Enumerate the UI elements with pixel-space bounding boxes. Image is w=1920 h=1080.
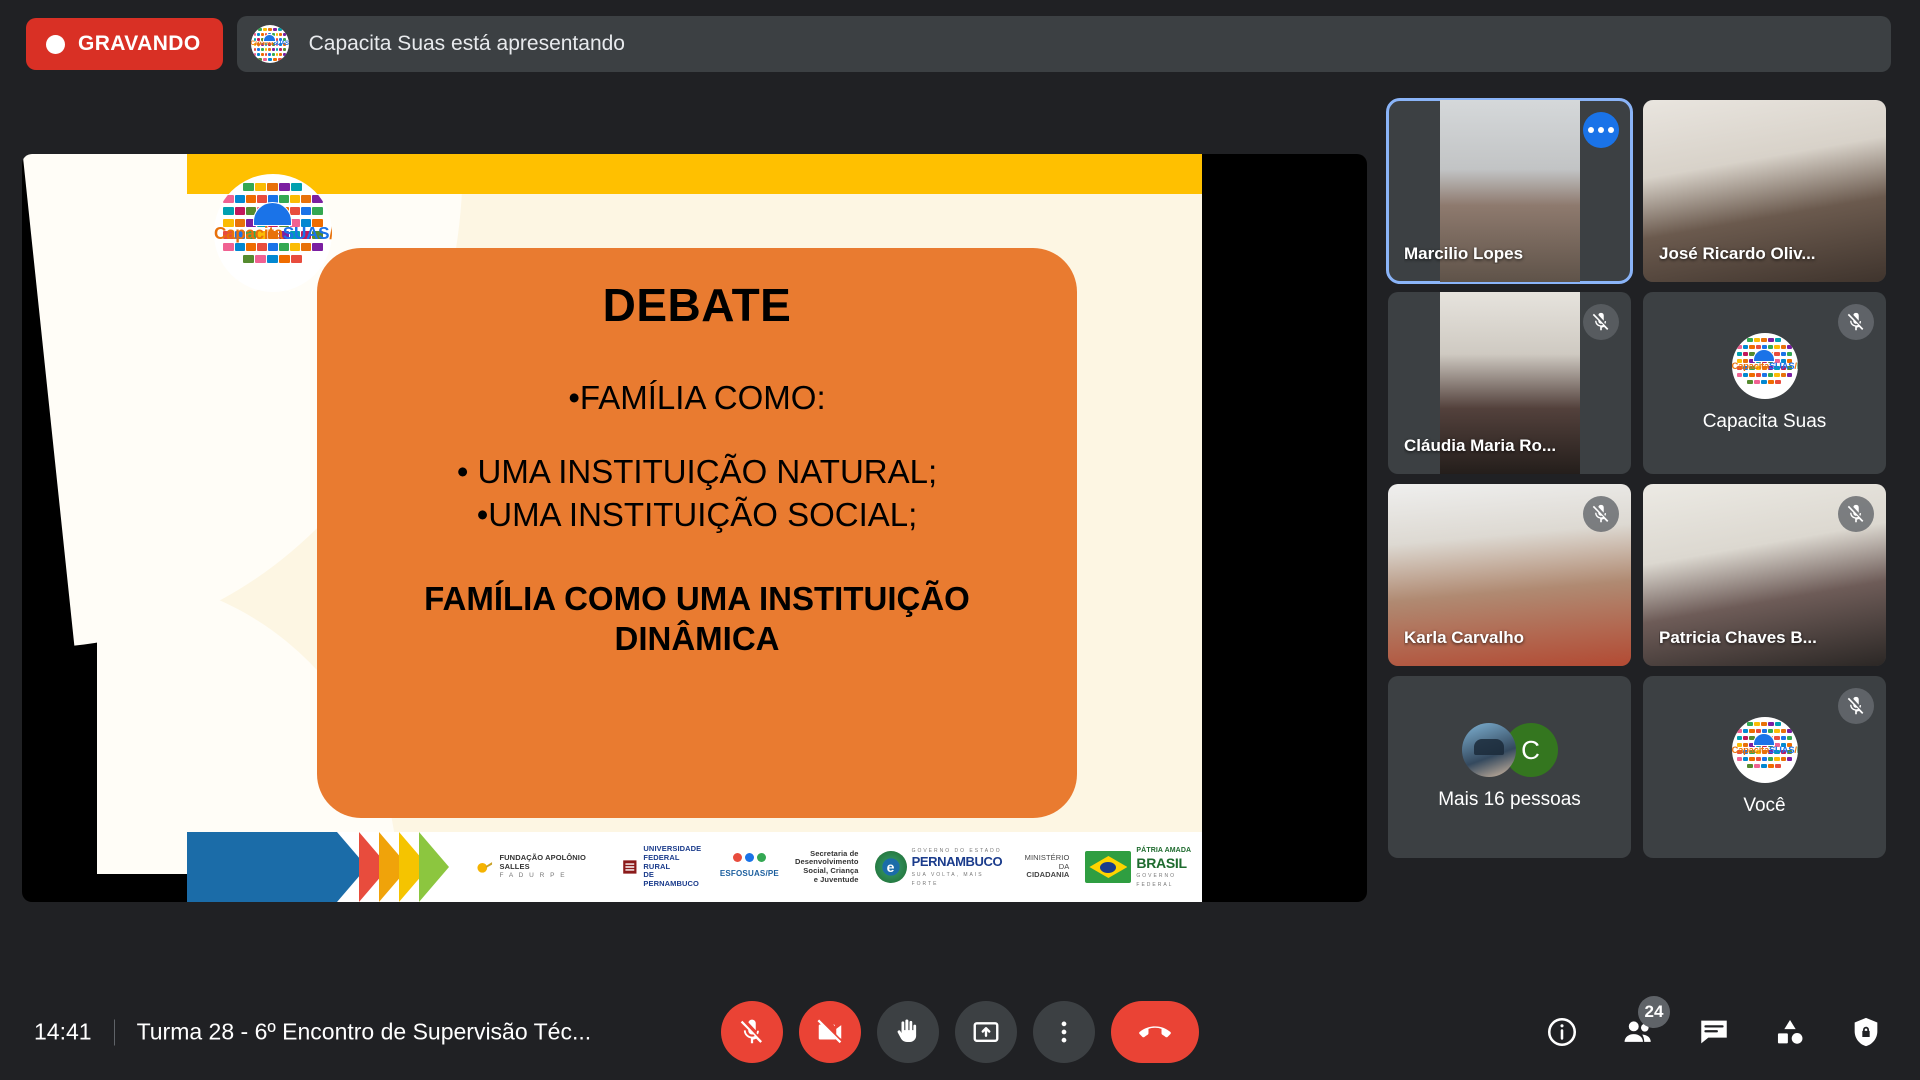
- hangup-icon: [1138, 1015, 1172, 1049]
- footer-blue-block: [187, 832, 337, 902]
- meeting-details-button[interactable]: [1538, 1008, 1586, 1056]
- participant-name: Patricia Chaves B...: [1659, 628, 1874, 648]
- tile-mic-off-indicator: [1583, 496, 1619, 532]
- footer-chevron-decoration: [337, 832, 457, 902]
- microphone-off-button[interactable]: [721, 1001, 783, 1063]
- participant-tile[interactable]: Karla Carvalho: [1388, 484, 1631, 666]
- patria-amada-brasil-logo: PÁTRIA AMADA BRASIL GOVERNO FEDERAL: [1085, 846, 1202, 889]
- fundacao-apolonio-salles-logo: FUNDAÇÃO APOLÔNIO SALLES F A D U R P E: [475, 854, 605, 880]
- brasil-flag-icon: [1085, 851, 1131, 883]
- apolonio-mark-icon: [475, 856, 494, 878]
- mic-off-icon: [737, 1017, 767, 1047]
- recording-dot-icon: [46, 35, 65, 54]
- capacitasuas-logo-icon: CapacitaSUAS/PE: [1732, 717, 1798, 783]
- apolonio-text: FUNDAÇÃO APOLÔNIO SALLES F A D U R P E: [499, 854, 604, 880]
- slide-bullet-3: •UMA INSTITUIÇÃO SOCIAL;: [477, 495, 918, 535]
- top-bar: GRAVANDO CapacitaSUAS/PE Capacita Suas e…: [0, 0, 1920, 88]
- end-call-button[interactable]: [1111, 1001, 1199, 1063]
- raise-hand-button[interactable]: [877, 1001, 939, 1063]
- presenting-banner[interactable]: CapacitaSUAS/PE Capacita Suas está apres…: [237, 16, 1891, 72]
- mic-off-icon: [1845, 503, 1867, 525]
- host-controls-button[interactable]: [1842, 1008, 1890, 1056]
- participant-name: Karla Carvalho: [1404, 628, 1619, 648]
- participant-name: José Ricardo Oliv...: [1659, 244, 1874, 264]
- mic-off-icon: [1845, 695, 1867, 717]
- tile-more-options-button[interactable]: [1583, 112, 1619, 148]
- pernambuco-text: GOVERNO DO ESTADO PERNAMBUCO SUA VOLTA, …: [912, 846, 1003, 887]
- slide-emphasis-line-1: FAMÍLIA COMO UMA INSTITUIÇÃO: [424, 579, 970, 619]
- capacitasuas-slide-logo-icon: CapacitaSUAS/PE: [214, 174, 332, 292]
- meta-divider: [114, 1019, 115, 1045]
- participant-name: Capacita Suas: [1703, 411, 1827, 433]
- chat-icon: [1697, 1015, 1731, 1049]
- governo-pernambuco-logo: GOVERNO DO ESTADO PERNAMBUCO SUA VOLTA, …: [875, 846, 1003, 887]
- participant-tile[interactable]: Cláudia Maria Ro...: [1388, 292, 1631, 474]
- ministerio-text: MINISTÉRIO DA CIDADANIA: [1018, 854, 1069, 880]
- participant-name: Você: [1743, 795, 1785, 817]
- chat-button[interactable]: [1690, 1008, 1738, 1056]
- meeting-meta: 14:41 Turma 28 - 6º Encontro de Supervis…: [34, 1019, 591, 1046]
- shield-lock-icon: [1849, 1015, 1883, 1049]
- tile-mic-off-indicator: [1838, 688, 1874, 724]
- capacitasuas-wordmark: CapacitaSUAS/PE: [251, 41, 289, 47]
- more-options-button[interactable]: [1033, 1001, 1095, 1063]
- right-action-buttons: 24: [1538, 1008, 1890, 1056]
- slide-bullet-2: • UMA INSTITUIÇÃO NATURAL;: [457, 452, 937, 492]
- mic-off-icon: [1590, 311, 1612, 333]
- present-icon: [971, 1017, 1001, 1047]
- esfosuas-label: ESFOSUAS/PE: [720, 869, 779, 878]
- esfosuas-people-icon: [720, 853, 779, 862]
- mic-off-icon: [1845, 311, 1867, 333]
- ministerio-da-cidadania-logo: MINISTÉRIO DA CIDADANIA: [1018, 854, 1069, 880]
- slide-footer-band: FUNDAÇÃO APOLÔNIO SALLES F A D U R P E U…: [187, 832, 1202, 902]
- video-off-icon: [815, 1017, 845, 1047]
- overflow-participants-block: CMais 16 pessoas: [1388, 676, 1631, 858]
- mic-off-icon: [1590, 503, 1612, 525]
- capacitasuas-logo-icon: CapacitaSUAS/PE: [1732, 333, 1798, 399]
- capacitasuas-arc-icon: [263, 34, 276, 42]
- tile-mic-off-indicator: [1838, 304, 1874, 340]
- capacitasuas-wordmark: CapacitaSUAS/PE: [1732, 361, 1798, 372]
- meet-window: GRAVANDO CapacitaSUAS/PE Capacita Suas e…: [0, 0, 1920, 1080]
- more-horizontal-icon: [1588, 127, 1614, 133]
- ufrpe-logo: UNIVERSIDADE FEDERAL RURAL DE PERNAMBUCO: [621, 845, 704, 888]
- participant-tile[interactable]: CMais 16 pessoas: [1388, 676, 1631, 858]
- ufrpe-crest-icon: [621, 856, 639, 878]
- activities-button[interactable]: [1766, 1008, 1814, 1056]
- capacitasuas-arc-icon: [253, 202, 292, 226]
- participant-name: Marcilio Lopes: [1404, 244, 1619, 264]
- capacitasuas-wordmark: CapacitaSUAS/PE: [1732, 745, 1798, 756]
- participant-name: Mais 16 pessoas: [1438, 789, 1581, 811]
- participant-tile[interactable]: CapacitaSUAS/PECapacita Suas: [1643, 292, 1886, 474]
- capacitasuas-arc-icon: [1753, 733, 1775, 746]
- slide-content-box: DEBATE •FAMÍLIA COMO: • UMA INSTITUIÇÃO …: [317, 248, 1077, 818]
- secretaria-desenvolvimento-social-logo: Secretaria de Desenvolvimento Social, Cr…: [795, 850, 859, 885]
- shapes-icon: [1773, 1015, 1807, 1049]
- pernambuco-seal-icon: [875, 851, 907, 883]
- recording-label: GRAVANDO: [78, 32, 201, 56]
- avatar: [1462, 723, 1516, 777]
- capacitasuas-logo-icon: CapacitaSUAS/PE: [251, 25, 289, 63]
- esfosuas-logo: ESFOSUAS/PE: [720, 853, 779, 881]
- more-vertical-icon: [1049, 1017, 1079, 1047]
- participant-tile-grid: Marcilio LopesJosé Ricardo Oliv...Cláudi…: [1388, 100, 1898, 858]
- slide-emphasis-line-2: DINÂMICA: [615, 619, 780, 659]
- presentation-slide: CapacitaSUAS/PE DEBATE •FAMÍLIA COMO: • …: [187, 154, 1202, 902]
- call-controls: [721, 1001, 1199, 1063]
- bottom-bar: 14:41 Turma 28 - 6º Encontro de Supervis…: [0, 984, 1920, 1080]
- presenting-text: Capacita Suas está apresentando: [309, 32, 625, 56]
- participants-button[interactable]: 24: [1614, 1008, 1662, 1056]
- participant-tile[interactable]: José Ricardo Oliv...: [1643, 100, 1886, 282]
- meeting-title: Turma 28 - 6º Encontro de Supervisão Téc…: [137, 1019, 592, 1046]
- overflow-avatars: C: [1462, 723, 1558, 777]
- info-icon: [1545, 1015, 1579, 1049]
- participants-count-badge: 24: [1638, 996, 1670, 1028]
- shared-screen-stage[interactable]: CapacitaSUAS/PE DEBATE •FAMÍLIA COMO: • …: [22, 154, 1367, 902]
- clock: 14:41: [34, 1019, 92, 1046]
- participant-tile[interactable]: Patricia Chaves B...: [1643, 484, 1886, 666]
- participant-tile[interactable]: CapacitaSUAS/PEVocê: [1643, 676, 1886, 858]
- slide-title: DEBATE: [603, 278, 792, 332]
- footer-logo-row: FUNDAÇÃO APOLÔNIO SALLES F A D U R P E U…: [457, 845, 1202, 888]
- slide-top-band: [187, 154, 1202, 194]
- participant-tile[interactable]: Marcilio Lopes: [1388, 100, 1631, 282]
- recording-indicator[interactable]: GRAVANDO: [26, 18, 223, 70]
- patria-amada-text: PÁTRIA AMADA BRASIL GOVERNO FEDERAL: [1136, 846, 1202, 889]
- camera-off-button[interactable]: [799, 1001, 861, 1063]
- tile-mic-off-indicator: [1583, 304, 1619, 340]
- ufrpe-text: UNIVERSIDADE FEDERAL RURAL DE PERNAMBUCO: [643, 845, 703, 888]
- secretaria-text: Secretaria de Desenvolvimento Social, Cr…: [795, 850, 859, 885]
- present-screen-button[interactable]: [955, 1001, 1017, 1063]
- capacitasuas-arc-icon: [1753, 349, 1775, 362]
- tile-mic-off-indicator: [1838, 496, 1874, 532]
- participant-name: Cláudia Maria Ro...: [1404, 436, 1619, 456]
- capacitasuas-wordmark: CapacitaSUAS/PE: [214, 224, 332, 244]
- hand-icon: [893, 1017, 923, 1047]
- slide-bullet-1: •FAMÍLIA COMO:: [568, 378, 825, 418]
